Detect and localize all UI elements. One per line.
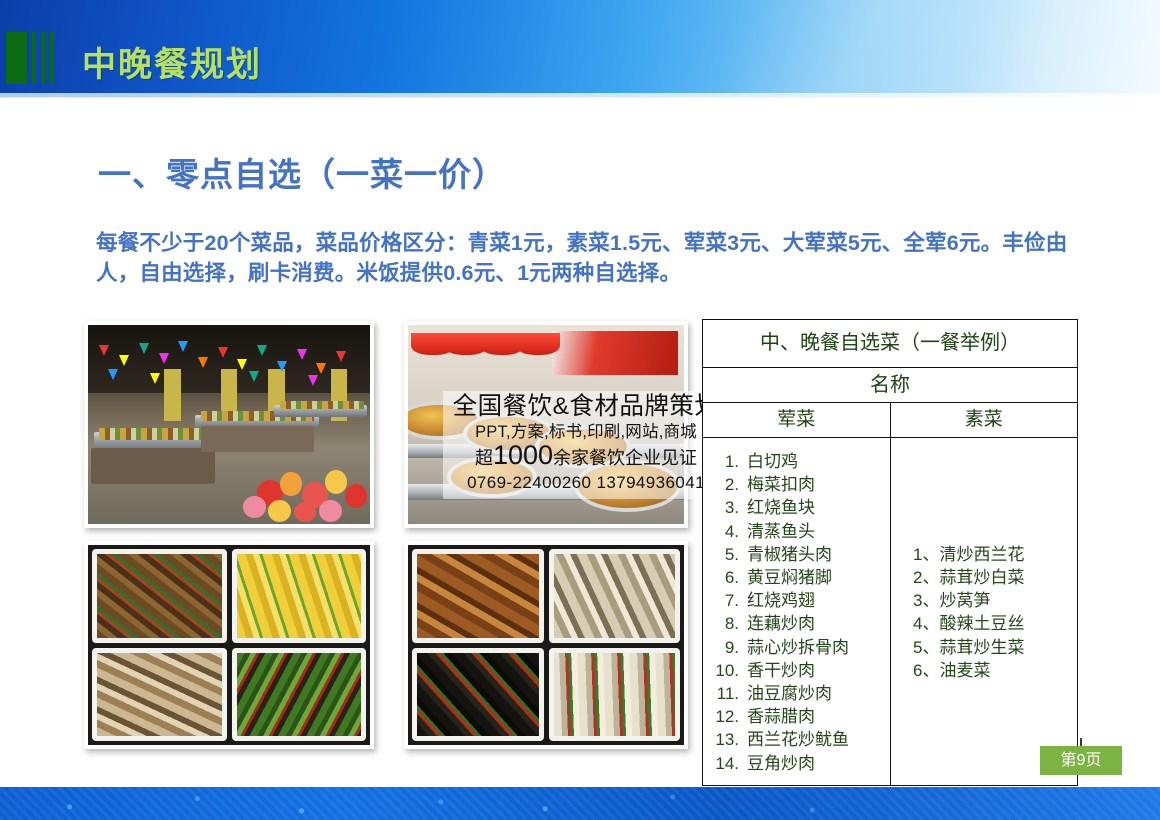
- meat-dish-item: 12.香蒜腊肉: [703, 705, 890, 728]
- menu-table-subtitle: 名称: [703, 368, 1077, 403]
- veg-dish-item: 3、炒莴笋: [891, 589, 1077, 612]
- slide: 中晚餐规划 一、零点自选（一菜一价） 每餐不少于20个菜品，菜品价格区分：青菜1…: [0, 0, 1160, 820]
- meat-dish-number: 4.: [703, 520, 747, 543]
- page-title: 中晚餐规划: [82, 37, 262, 86]
- meat-dish-name: 红烧鱼块: [747, 496, 815, 519]
- serving-counter-illustration: [408, 325, 684, 524]
- meat-dish-number: 9.: [703, 636, 747, 659]
- meat-dish-name: 连藕炒肉: [747, 612, 815, 635]
- meat-dish-item: 5.青椒猪头肉: [703, 543, 890, 566]
- meat-dish-name: 油豆腐炒肉: [747, 682, 832, 705]
- veg-dish-item: 2、蒜茸炒白菜: [891, 566, 1077, 589]
- veg-dish-list: 1、清炒西兰花2、蒜茸炒白菜3、炒莴笋4、酸辣土豆丝5、蒜茸炒生菜6、油麦菜: [891, 438, 1077, 785]
- meat-dish-number: 5.: [703, 543, 747, 566]
- serving-counter-photo: [404, 321, 688, 528]
- meat-dish-number: 13.: [703, 728, 747, 751]
- green-bars-logo-icon: [6, 32, 62, 84]
- meat-dish-number: 2.: [703, 473, 747, 496]
- section-heading: 一、零点自选（一菜一价）: [98, 148, 506, 196]
- meat-dish-item: 13.西兰花炒鱿鱼: [703, 728, 890, 751]
- meat-dish-name: 红烧鸡翅: [747, 589, 815, 612]
- meat-dish-name: 黄豆焖猪脚: [747, 566, 832, 589]
- veg-dish-item: 1、清炒西兰花: [891, 543, 1077, 566]
- veg-dish-item: 6、油麦菜: [891, 659, 1077, 682]
- meat-dish-name: 香蒜腊肉: [747, 705, 815, 728]
- section-paragraph: 每餐不少于20个菜品，菜品价格区分：青菜1元，素菜1.5元、荤菜3元、大荤菜5元…: [96, 228, 1076, 288]
- meat-dish-name: 青椒猪头肉: [747, 543, 832, 566]
- meat-dish-number: 8.: [703, 612, 747, 635]
- meat-dish-item: 9.蒜心炒拆骨肉: [703, 636, 890, 659]
- logo-block: [6, 32, 27, 84]
- dish-trays-photo-2: [404, 541, 688, 749]
- canteen-buffet-hall-photo: [84, 321, 374, 528]
- menu-table-title: 中、晚餐自选菜（一餐举例）: [703, 320, 1077, 368]
- meat-dish-number: 11.: [703, 682, 747, 705]
- meat-dish-item: 8.连藕炒肉: [703, 612, 890, 635]
- meat-dish-list: 1.白切鸡2.梅菜扣肉3.红烧鱼块4.清蒸鱼头5.青椒猪头肉6.黄豆焖猪脚7.红…: [703, 438, 891, 785]
- meat-dish-number: 10.: [703, 659, 747, 682]
- veg-dish-item: 4、酸辣土豆丝: [891, 612, 1077, 635]
- logo-bar-2: [41, 32, 45, 84]
- meat-dish-item: 3.红烧鱼块: [703, 496, 890, 519]
- meat-dish-item: 6.黄豆焖猪脚: [703, 566, 890, 589]
- dish-trays-photo-1: [84, 541, 374, 749]
- veg-dish-item: 5、蒜茸炒生菜: [891, 636, 1077, 659]
- slide-footer: [0, 787, 1160, 820]
- meat-dish-name: 梅菜扣肉: [747, 473, 815, 496]
- meat-dish-name: 豆角炒肉: [747, 752, 815, 775]
- meat-dish-item: 4.清蒸鱼头: [703, 520, 890, 543]
- menu-table-body: 1.白切鸡2.梅菜扣肉3.红烧鱼块4.清蒸鱼头5.青椒猪头肉6.黄豆焖猪脚7.红…: [703, 438, 1077, 785]
- meat-dish-item: 2.梅菜扣肉: [703, 473, 890, 496]
- logo-bar-3: [50, 32, 54, 84]
- meat-dish-number: 7.: [703, 589, 747, 612]
- meat-dish-name: 白切鸡: [747, 450, 798, 473]
- meat-dish-number: 3.: [703, 496, 747, 519]
- meat-dish-number: 6.: [703, 566, 747, 589]
- meat-dish-item: 7.红烧鸡翅: [703, 589, 890, 612]
- dish-trays-illustration-2: [408, 545, 684, 745]
- column-header-veg: 素菜: [891, 403, 1078, 437]
- header-sheen: [430, 0, 1160, 160]
- meat-dish-item: 1.白切鸡: [703, 450, 890, 473]
- meat-dish-name: 西兰花炒鱿鱼: [747, 728, 849, 751]
- hall-illustration: [88, 325, 370, 524]
- header-underline: [0, 93, 1160, 98]
- meat-dish-number: 1.: [703, 450, 747, 473]
- column-header-meat: 荤菜: [703, 403, 891, 437]
- menu-table-column-headers: 荤菜 素菜: [703, 403, 1077, 438]
- dish-trays-illustration-1: [88, 545, 370, 745]
- meat-dish-number: 14.: [703, 752, 747, 775]
- meat-dish-item: 10.香干炒肉: [703, 659, 890, 682]
- meat-dish-name: 清蒸鱼头: [747, 520, 815, 543]
- page-number-badge: 第9页: [1040, 746, 1122, 775]
- meat-dish-name: 蒜心炒拆骨肉: [747, 636, 849, 659]
- meat-dish-number: 12.: [703, 705, 747, 728]
- meat-dish-item: 11.油豆腐炒肉: [703, 682, 890, 705]
- meat-dish-name: 香干炒肉: [747, 659, 815, 682]
- slide-header: 中晚餐规划: [0, 0, 1160, 97]
- menu-table: 中、晚餐自选菜（一餐举例） 名称 荤菜 素菜 1.白切鸡2.梅菜扣肉3.红烧鱼块…: [702, 319, 1078, 786]
- meat-dish-item: 14.豆角炒肉: [703, 752, 890, 775]
- logo-bar-1: [32, 32, 36, 84]
